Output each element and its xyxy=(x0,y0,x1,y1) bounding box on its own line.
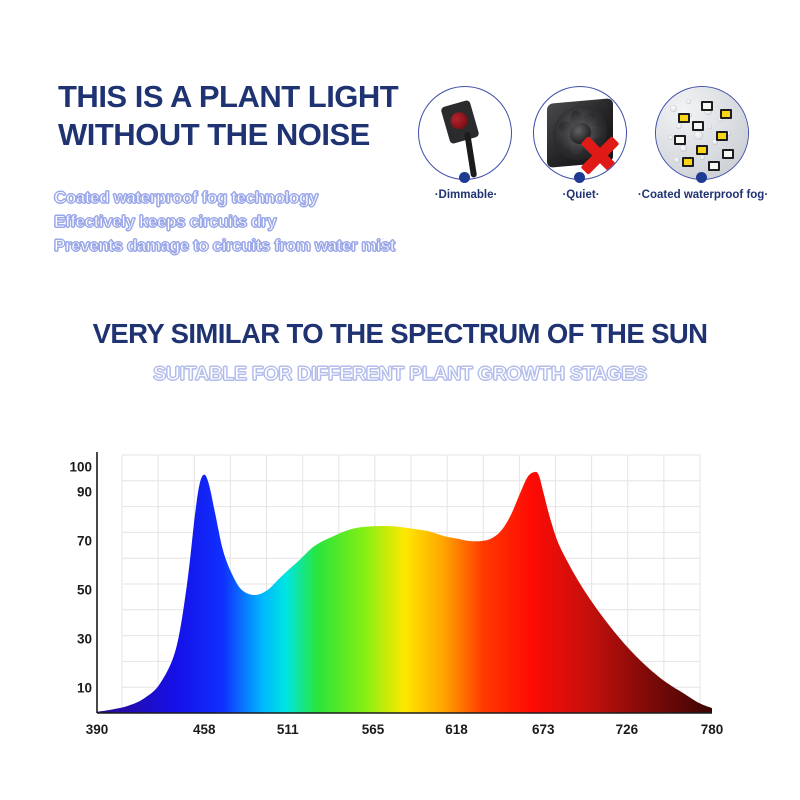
feature-line: Coated waterproof fog technology xyxy=(54,186,454,210)
feature-line: Effectively keeps circuits dry xyxy=(54,210,454,234)
x-axis-tick-label: 726 xyxy=(616,722,639,737)
dimmer-controller-icon xyxy=(440,100,479,145)
spectrum-chart-svg xyxy=(0,430,800,760)
badge-dot xyxy=(696,172,707,183)
badge-dimmable: ·Dimmable· xyxy=(418,86,514,182)
badge-coated-waterproof-fog: ·Coated waterproof fog· xyxy=(655,86,751,182)
dimmer-cable-icon xyxy=(464,132,477,178)
badge-circle-outline xyxy=(655,86,749,180)
red-cross-icon xyxy=(578,133,622,177)
badge-label: ·Coated waterproof fog· xyxy=(638,189,768,201)
x-axis-labels: 390458511565618673726780 xyxy=(0,722,800,746)
x-axis-tick-label: 565 xyxy=(362,722,385,737)
x-axis-tick-label: 458 xyxy=(193,722,216,737)
dimmer-knob-icon xyxy=(449,110,470,131)
x-axis-tick-label: 618 xyxy=(445,722,468,737)
badge-dot xyxy=(459,172,470,183)
led-board-waterdrops-icon xyxy=(656,87,749,180)
badge-quiet: ·Quiet· xyxy=(533,86,629,182)
badge-label: ·Quiet· xyxy=(562,189,599,201)
y-axis-tick-label: 30 xyxy=(58,632,92,647)
x-axis-tick-label: 673 xyxy=(532,722,555,737)
spectrum-area xyxy=(97,472,712,713)
page-title: THIS IS A PLANT LIGHT WITHOUT THE NOISE xyxy=(58,78,408,154)
feature-line: Prevents damage to circuits from water m… xyxy=(54,234,454,258)
spectrum-chart: 1030507090100 390458511565618673726780 xyxy=(0,430,800,760)
y-axis-tick-label: 90 xyxy=(58,484,92,499)
badge-circle-outline xyxy=(533,86,627,180)
y-axis-tick-label: 10 xyxy=(58,681,92,696)
feature-list: Coated waterproof fog technology Effecti… xyxy=(54,186,454,258)
spectrum-subtitle: SUITABLE FOR DIFFERENT PLANT GROWTH STAG… xyxy=(0,363,800,386)
badge-circle-outline xyxy=(418,86,512,180)
x-axis-tick-label: 511 xyxy=(277,722,299,737)
badge-dot xyxy=(574,172,585,183)
y-axis-tick-label: 70 xyxy=(58,534,92,549)
badge-label: ·Dimmable· xyxy=(435,189,498,201)
y-axis-tick-label: 100 xyxy=(58,460,92,475)
x-axis-tick-label: 390 xyxy=(86,722,109,737)
x-axis-tick-label: 780 xyxy=(701,722,724,737)
y-axis-labels: 1030507090100 xyxy=(56,430,92,760)
y-axis-tick-label: 50 xyxy=(58,583,92,598)
spectrum-title: VERY SIMILAR TO THE SPECTRUM OF THE SUN xyxy=(0,318,800,350)
